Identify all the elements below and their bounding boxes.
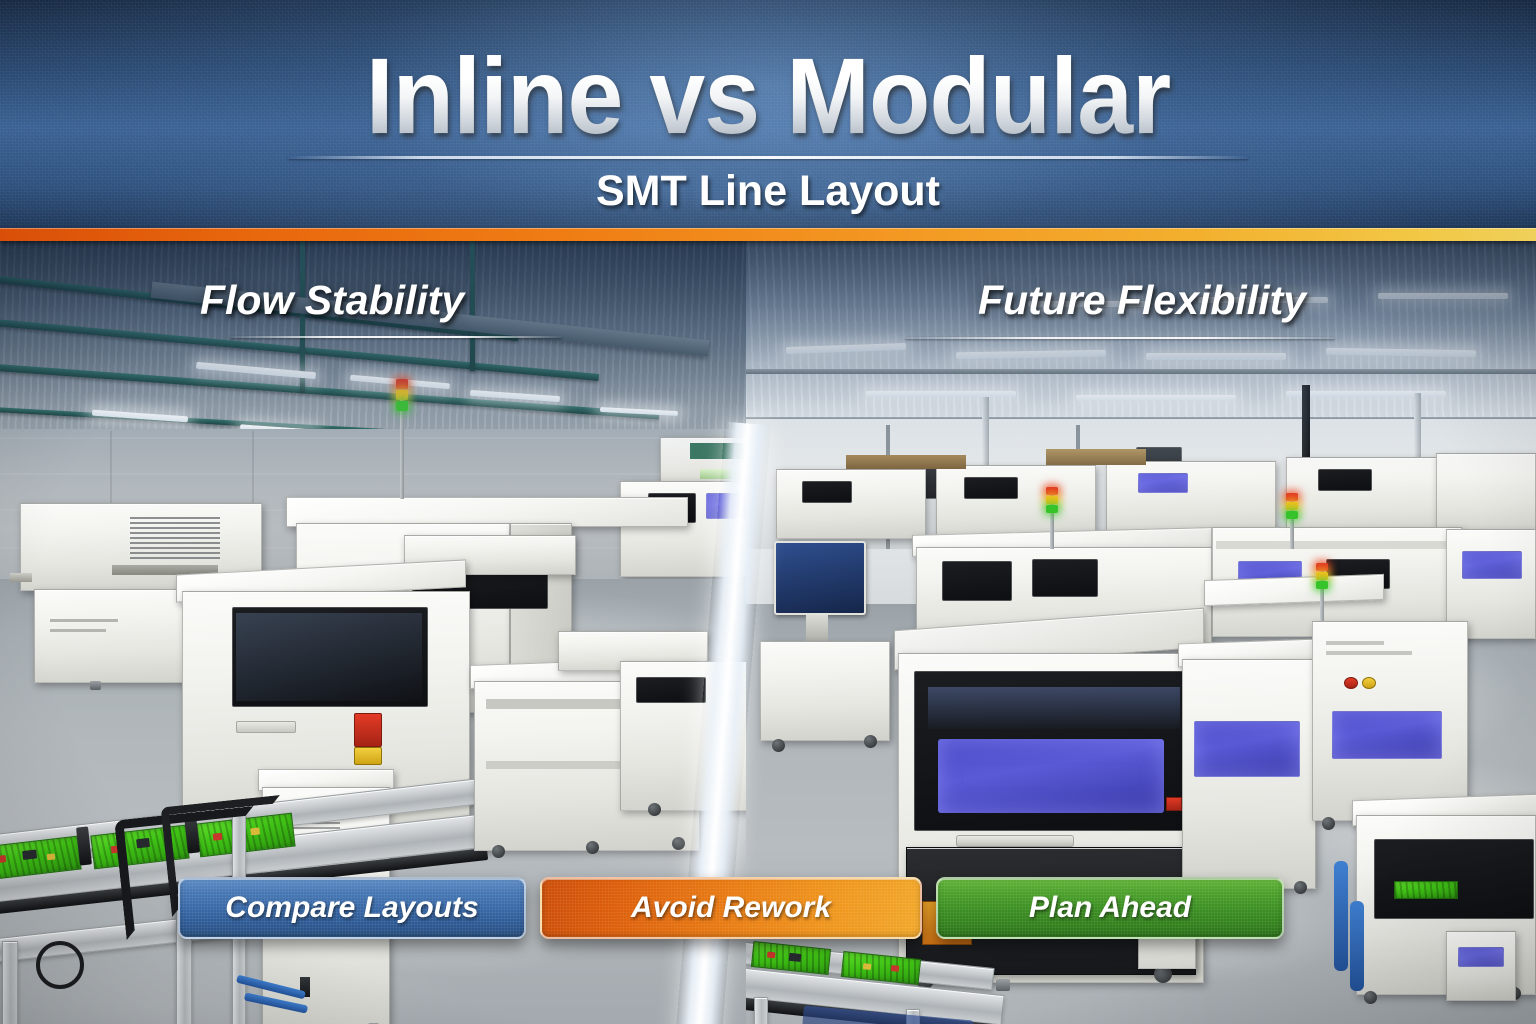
ceiling-light <box>1076 395 1236 401</box>
stack-light-tower <box>1286 493 1298 549</box>
page-title: Inline vs Modular <box>54 42 1482 150</box>
material-crate <box>846 455 966 469</box>
machine-window <box>964 477 1018 499</box>
workstation-cart <box>760 641 890 741</box>
machine-window <box>1462 551 1522 579</box>
modular-cell <box>776 469 926 539</box>
page-subtitle: SMT Line Layout <box>0 168 1536 215</box>
frame-upright <box>754 997 768 1024</box>
plan-ahead-button[interactable]: Plan Ahead <box>936 877 1284 939</box>
right-panel-label-underline <box>905 337 1335 339</box>
machine-window <box>1194 721 1300 777</box>
stack-light-tower <box>1046 487 1058 549</box>
accent-divider-bar <box>0 228 1536 241</box>
left-panel-label-underline <box>230 336 562 338</box>
infographic-slide: Inline vs Modular SMT Line Layout <box>0 0 1536 1024</box>
cta-button-row: Compare Layouts Avoid Rework Plan Ahead <box>0 877 1536 945</box>
machine-window <box>1138 473 1188 493</box>
blue-stencil-light <box>938 739 1164 813</box>
ceiling-light <box>1146 353 1286 360</box>
machine-window <box>706 493 746 519</box>
ceiling-post <box>470 241 475 371</box>
emergency-stop-button[interactable] <box>354 713 382 747</box>
plan-ahead-label: Plan Ahead <box>1029 891 1191 925</box>
warning-plate <box>354 747 382 765</box>
modular-cell <box>1436 453 1536 533</box>
machine-handle[interactable] <box>956 835 1074 847</box>
compare-layouts-label: Compare Layouts <box>225 891 478 925</box>
machine-window <box>802 481 852 503</box>
modular-cell <box>1106 461 1276 537</box>
machine-window <box>636 677 706 703</box>
ceiling-light <box>1378 293 1508 299</box>
header-banner: Inline vs Modular SMT Line Layout <box>0 0 1536 228</box>
machine-window <box>1458 947 1504 967</box>
material-crate <box>1046 449 1146 465</box>
avoid-rework-label: Avoid Rework <box>631 891 831 925</box>
machine-window <box>1032 559 1098 597</box>
ceiling-light <box>1286 391 1446 397</box>
window-glass-reflection <box>236 613 422 701</box>
avoid-rework-button[interactable]: Avoid Rework <box>540 877 922 939</box>
compare-layouts-button[interactable]: Compare Layouts <box>178 877 526 939</box>
monitor-stand <box>806 615 828 641</box>
cable-reel <box>36 941 84 989</box>
machine-window <box>942 561 1012 601</box>
indicator-light <box>1166 797 1182 811</box>
machine-bracket <box>10 573 32 582</box>
title-divider-rule <box>288 156 1248 159</box>
operator-monitor[interactable] <box>774 541 866 615</box>
left-panel-label: Flow Stability <box>200 277 464 324</box>
machine-handle <box>236 721 296 733</box>
stack-light-tower <box>1316 563 1328 621</box>
right-panel-label: Future Flexibility <box>978 277 1306 324</box>
frame-upright <box>2 941 18 1024</box>
machine-window <box>1332 711 1442 759</box>
ceiling-rail <box>746 369 1536 374</box>
indicator-light <box>1344 677 1358 689</box>
ceiling-light <box>866 391 1016 397</box>
window-glass-reflection <box>928 687 1180 729</box>
machine-window <box>1318 469 1372 491</box>
indicator-light <box>1362 677 1376 689</box>
machine-label <box>130 517 220 559</box>
stack-light-tower <box>396 379 408 499</box>
